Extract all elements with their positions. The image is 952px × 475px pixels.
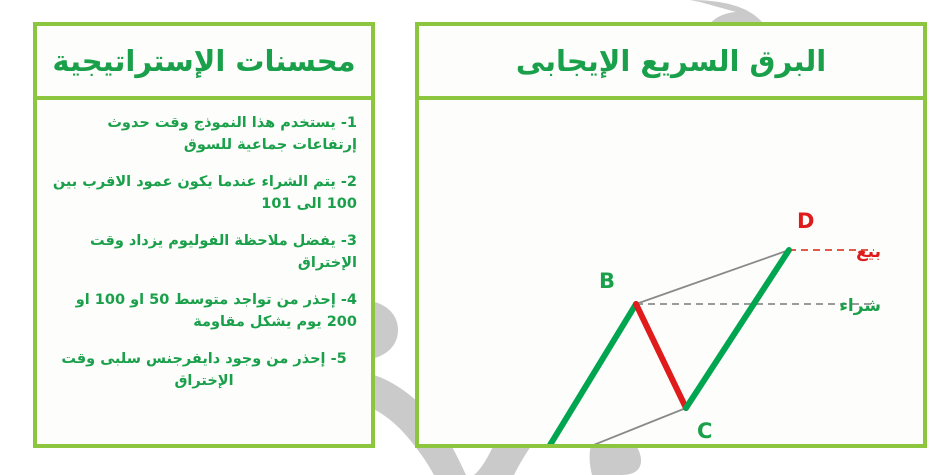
strategy-enhancers-panel: محسنات الإستراتيجية 1- يستخدم هذا النموذ… [33,22,375,448]
list-item: 5- إحذر من وجود دايفرجنس سلبى وقت الإختر… [51,348,357,393]
page-title-left: محسنات الإستراتيجية [52,44,355,78]
trendline-resistance [636,250,789,304]
screenshot-root: محسنات الإستراتيجية 1- يستخدم هذا النموذ… [0,0,952,475]
point-label-c: C [697,419,712,443]
pattern-diagram-svg: A B C D بيع شراء [419,100,923,444]
list-item: 1- يستخدم هذا النموذج وقت حدوث إرتفاعات … [51,112,357,157]
leg-cd-up [686,250,789,408]
pattern-diagram-panel: البرق السريع الإيجابى A B [415,22,927,448]
pattern-diagram: A B C D بيع شراء [419,100,923,444]
leg-ab-up [536,304,636,444]
list-item: 3- يفضل ملاحظة الفوليوم يزداد وقت الإختر… [51,230,357,275]
point-label-b: B [599,269,615,293]
list-item: 4- إحذر من تواجد متوسط 50 او 100 او 200 … [51,289,357,334]
buy-level-label: شراء [839,296,881,316]
sell-level-label: بيع [856,242,881,262]
strategy-list: 1- يستخدم هذا النموذج وقت حدوث إرتفاعات … [37,100,371,444]
strategy-panel-body: 1- يستخدم هذا النموذج وقت حدوث إرتفاعات … [37,100,371,444]
page-title-right: البرق السريع الإيجابى [516,44,826,78]
strategy-panel-header: محسنات الإستراتيجية [37,26,371,100]
leg-bc-down [636,304,686,408]
point-label-d: D [797,209,814,233]
list-item: 2- يتم الشراء عندما يكون عمود الاقرب بين… [51,171,357,216]
pattern-panel-header: البرق السريع الإيجابى [419,26,923,100]
pattern-panel-body: A B C D بيع شراء [419,100,923,444]
